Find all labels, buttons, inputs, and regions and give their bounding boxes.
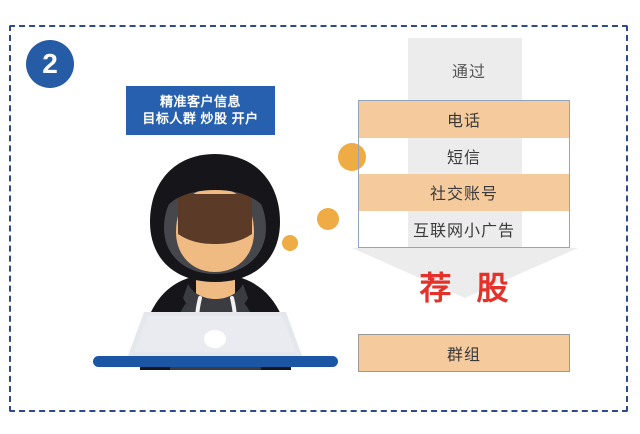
group-box-label: 群组 [447, 341, 481, 365]
channel-row-sms: 短信 [359, 138, 569, 175]
channel-label: 电话 [447, 107, 481, 131]
infographic-canvas: 2 精准客户信息 目标人群 炒股 开户 [0, 0, 640, 434]
step-number-text: 2 [42, 50, 58, 78]
channel-label: 互联网小广告 [413, 217, 515, 241]
orange-bubble-small [282, 235, 298, 251]
group-box: 群组 [358, 334, 570, 372]
caption-line-1: 精准客户信息 [160, 95, 241, 110]
channel-label: 短信 [447, 144, 481, 168]
channel-row-internet-ads: 互联网小广告 [359, 211, 569, 248]
through-label: 通过 [408, 58, 530, 82]
step-number-badge: 2 [26, 40, 74, 88]
channel-list: 电话 短信 社交账号 互联网小广告 [358, 100, 570, 248]
channel-label: 社交账号 [430, 180, 498, 204]
hooded-hacker-illustration [88, 148, 343, 370]
channel-row-social-account: 社交账号 [359, 174, 569, 211]
orange-bubble-medium [317, 208, 339, 230]
stock-recommendation-headline: 荐 股 [358, 272, 570, 304]
channel-row-phone: 电话 [359, 101, 569, 138]
caption-line-2: 目标人群 炒股 开户 [142, 112, 258, 127]
target-info-caption-box: 精准客户信息 目标人群 炒股 开户 [126, 86, 275, 135]
